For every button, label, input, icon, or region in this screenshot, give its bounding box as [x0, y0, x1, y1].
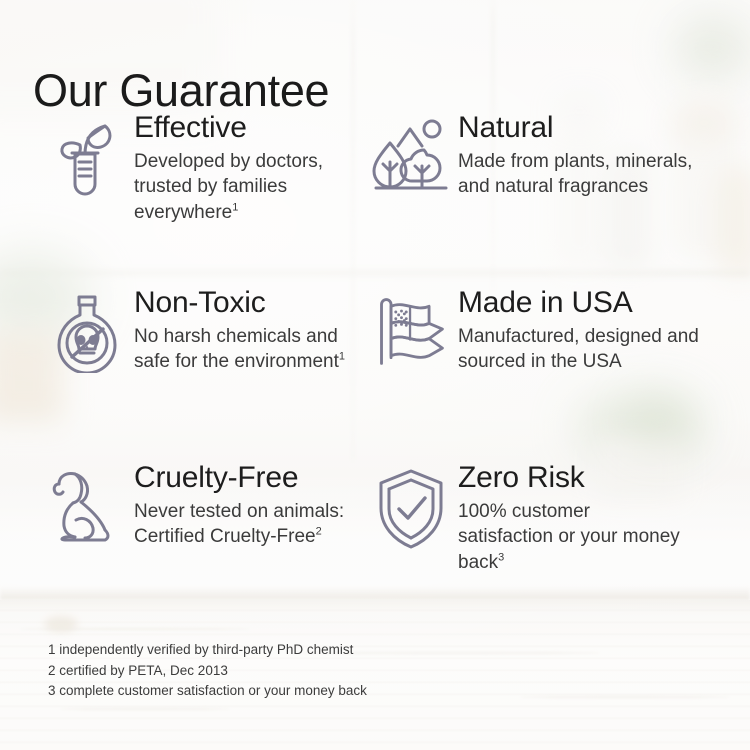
feature-footnote-marker: 3 — [498, 551, 504, 563]
feature-text: Made in USA Manufactured, designed and s… — [450, 287, 713, 375]
feature-title: Made in USA — [458, 287, 713, 319]
features-row-3: Cruelty-Free Never tested on animals: Ce… — [0, 462, 750, 637]
feature-footnote-marker: 2 — [316, 526, 322, 538]
usa-flag-icon — [372, 287, 450, 369]
features-row-2: Non-Toxic No harsh chemicals and safe fo… — [0, 287, 750, 462]
features-row-1: Effective Developed by doctors, trusted … — [0, 112, 750, 287]
feature-description-text: Never tested on animals: Certified Cruel… — [134, 501, 344, 547]
feature-text: Natural Made from plants, minerals, and … — [450, 112, 708, 200]
content-layer: Our Guarantee — [0, 0, 750, 750]
feature-description: Manufactured, designed and sourced in th… — [458, 324, 713, 374]
feature-title: Natural — [458, 112, 708, 144]
feature-text: Cruelty-Free Never tested on animals: Ce… — [126, 462, 360, 550]
feature-title: Cruelty-Free — [134, 462, 360, 494]
feature-description-text: No harsh chemicals and safe for the envi… — [134, 326, 339, 372]
feature-description: Made from plants, minerals, and natural … — [458, 149, 708, 199]
feature-title: Zero Risk — [458, 462, 688, 494]
footnote-2: 2 certified by PETA, Dec 2013 — [48, 661, 367, 682]
sitting-dog-icon — [48, 462, 126, 544]
feature-zero-risk: Zero Risk 100% customer satisfaction or … — [360, 462, 750, 637]
feature-description-text: Made from plants, minerals, and natural … — [458, 151, 692, 197]
feature-natural: Natural Made from plants, minerals, and … — [360, 112, 750, 287]
feature-effective: Effective Developed by doctors, trusted … — [0, 112, 360, 287]
feature-text: Zero Risk 100% customer satisfaction or … — [450, 462, 688, 575]
feature-footnote-marker: 1 — [339, 351, 345, 363]
footnote-1: 1 independently verified by third-party … — [48, 640, 367, 661]
guarantee-infographic: Our Guarantee — [0, 0, 750, 750]
trees-mountain-sun-icon — [372, 112, 450, 192]
feature-cruelty-free: Cruelty-Free Never tested on animals: Ce… — [0, 462, 360, 637]
features-grid: Effective Developed by doctors, trusted … — [0, 112, 750, 637]
feature-description: Developed by doctors, trusted by familie… — [134, 149, 360, 224]
test-tube-leaf-icon — [48, 112, 126, 196]
feature-title: Non-Toxic — [134, 287, 360, 319]
feature-description: No harsh chemicals and safe for the envi… — [134, 324, 360, 374]
feature-footnote-marker: 1 — [232, 201, 238, 213]
page-title: Our Guarantee — [33, 68, 329, 113]
feature-non-toxic: Non-Toxic No harsh chemicals and safe fo… — [0, 287, 360, 462]
feature-description: 100% customer satisfaction or your money… — [458, 499, 688, 574]
feature-description-text: Manufactured, designed and sourced in th… — [458, 326, 699, 372]
footnote-3: 3 complete customer satisfaction or your… — [48, 681, 367, 702]
feature-text: Effective Developed by doctors, trusted … — [126, 112, 360, 225]
feature-text: Non-Toxic No harsh chemicals and safe fo… — [126, 287, 360, 375]
feature-description: Never tested on animals: Certified Cruel… — [134, 499, 360, 549]
shield-check-icon — [372, 462, 450, 550]
feature-description-text: Developed by doctors, trusted by familie… — [134, 151, 323, 222]
feature-title: Effective — [134, 112, 360, 144]
footnotes: 1 independently verified by third-party … — [48, 640, 367, 702]
no-poison-bottle-skull-icon — [48, 287, 126, 373]
feature-made-in-usa: Made in USA Manufactured, designed and s… — [360, 287, 750, 462]
feature-description-text: 100% customer satisfaction or your money… — [458, 501, 680, 572]
